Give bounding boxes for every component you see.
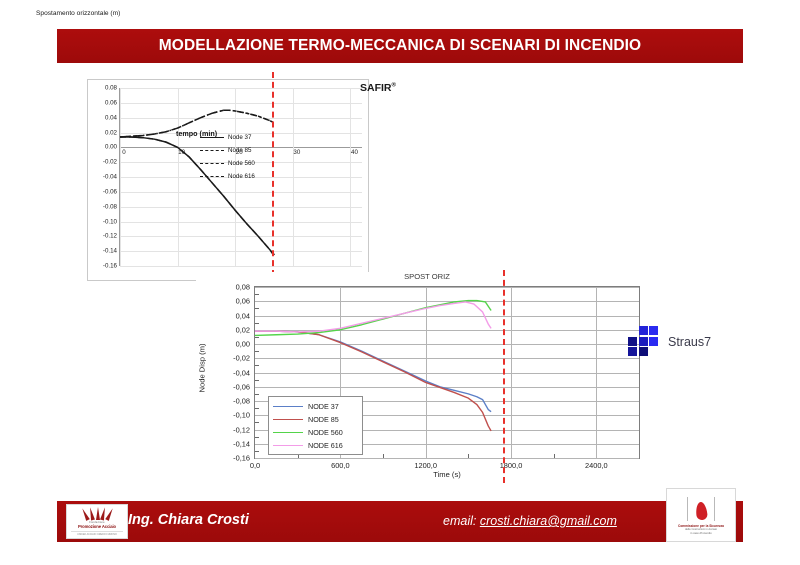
page-title: MODELLAZIONE TERMO-MECCANICA DI SCENARI … — [159, 37, 641, 55]
straus7-legend-label: NODE 37 — [308, 402, 339, 411]
flame-shape — [695, 501, 708, 520]
straus7-x-axis-title: Time (s) — [254, 470, 640, 479]
safir-ytick-label: -0.02 — [103, 159, 117, 166]
email-label: email: — [443, 514, 476, 528]
email-address-link[interactable]: crosti.chiara@gmail.com — [480, 514, 617, 528]
straus7-logo-cell — [628, 347, 637, 356]
straus7-logo-cell — [628, 337, 637, 346]
safir-ytick-label: -0.04 — [103, 174, 117, 181]
straus7-ytick-label: -0,06 — [233, 382, 250, 391]
straus7-legend-item: NODE 616 — [273, 439, 358, 452]
straus7-ytick-label: 0,06 — [236, 297, 250, 306]
straus7-brand: Straus7 — [628, 326, 711, 357]
safir-software-label: SAFIR® — [360, 82, 396, 94]
safir-legend-swatch-dashed — [200, 150, 224, 151]
safir-ytick-label: -0.16 — [103, 263, 117, 270]
safir-legend-item: Node 616 — [200, 170, 278, 183]
straus7-legend-item: NODE 37 — [273, 400, 358, 413]
straus7-ytick-label: -0,10 — [233, 411, 250, 420]
straus7-logo-cell — [649, 326, 658, 335]
straus7-ytick-label: 0,00 — [236, 340, 250, 349]
straus7-legend: NODE 37NODE 85NODE 560NODE 616 — [268, 396, 363, 455]
straus7-software-label: Straus7 — [668, 335, 711, 349]
logo-left-line3: UNICEF ACCIAIO CREDO FUMOSO — [71, 531, 123, 536]
straus7-legend-swatch — [273, 406, 303, 407]
straus7-ytick-label: 0,02 — [236, 325, 250, 334]
safir-legend-swatch-dotted-dash — [200, 163, 224, 164]
flame-icon — [687, 497, 715, 521]
safir-legend-item: Node 85 — [200, 144, 278, 157]
straus7-series-node-560 — [255, 301, 491, 336]
safir-ytick-label: 0.02 — [105, 129, 117, 136]
slide-title-bar: MODELLAZIONE TERMO-MECCANICA DI SCENARI … — [57, 29, 743, 63]
straus7-chart-title: SPOST ORIZ — [196, 272, 658, 281]
straus7-ytick-label: -0,04 — [233, 368, 250, 377]
slide-canvas: MODELLAZIONE TERMO-MECCANICA DI SCENARI … — [0, 0, 800, 565]
safir-legend-label: Node 37 — [228, 134, 251, 141]
safir-legend-label: Node 560 — [228, 160, 255, 167]
author-name: Ing. Chiara Crosti — [128, 512, 249, 528]
straus7-logo-icon — [628, 326, 659, 357]
safir-ytick-label: 0.08 — [105, 85, 117, 92]
safir-ytick-label: -0.06 — [103, 188, 117, 195]
safir-ytick-label: -0.10 — [103, 218, 117, 225]
straus7-series-node-616 — [255, 302, 491, 332]
safir-legend-swatch-solid — [200, 137, 224, 138]
safir-ytick-label: -0.12 — [103, 233, 117, 240]
straus7-xtick-label: 2400,0 — [585, 461, 608, 470]
safir-ytick-label: 0.04 — [105, 114, 117, 121]
straus7-ytick-label: 0,04 — [236, 311, 250, 320]
fondazione-promozione-acciaio-logo: Fondazione Promozione Acciaio UNICEF ACC… — [66, 504, 128, 539]
safir-ytick-label: -0.14 — [103, 248, 117, 255]
safir-gridline-y — [120, 266, 362, 267]
straus7-xtick-label: 600,0 — [331, 461, 350, 470]
straus7-y-axis-title: Node Disp (m) — [198, 344, 207, 393]
safir-software-name: SAFIR — [360, 82, 392, 94]
straus7-ytick-label: -0,08 — [233, 397, 250, 406]
straus7-legend-label: NODE 85 — [308, 415, 339, 424]
safir-legend: Node 37Node 85Node 560Node 616 — [200, 131, 278, 183]
fan-icon — [86, 507, 108, 520]
straus7-ytick-label: -0,16 — [233, 454, 250, 463]
straus7-legend-label: NODE 560 — [308, 428, 343, 437]
straus7-xtick-label: 0,0 — [250, 461, 260, 470]
straus7-legend-item: NODE 85 — [273, 413, 358, 426]
commissione-sicurezza-logo: Commissione per la Sicurezza delle Costr… — [666, 488, 736, 542]
straus7-legend-label: NODE 616 — [308, 441, 343, 450]
safir-ytick-label: 0.06 — [105, 99, 117, 106]
safir-legend-label: Node 616 — [228, 173, 255, 180]
straus7-ytick-label: 0,08 — [236, 283, 250, 292]
safir-legend-item: Node 560 — [200, 157, 278, 170]
straus7-ytick-label: -0,12 — [233, 425, 250, 434]
straus7-ytick-label: -0,14 — [233, 439, 250, 448]
straus7-gridline-y — [255, 458, 639, 459]
straus7-legend-swatch — [273, 432, 303, 433]
straus7-legend-swatch — [273, 419, 303, 420]
safir-ytick-label: 0.00 — [105, 144, 117, 151]
straus7-xtick-label: 1200,0 — [414, 461, 437, 470]
safir-legend-label: Node 85 — [228, 147, 251, 154]
author-email[interactable]: email: crosti.chiara@gmail.com — [443, 514, 617, 528]
straus7-legend-swatch — [273, 445, 303, 446]
logo-left-line2: Promozione Acciaio — [78, 524, 116, 529]
safir-legend-swatch-dash-dot — [200, 176, 224, 177]
straus7-logo-cell — [649, 337, 658, 346]
straus7-collapse-marker-line — [503, 270, 505, 483]
safir-legend-item: Node 37 — [200, 131, 278, 144]
straus7-logo-cell — [639, 337, 648, 346]
straus7-logo-cell — [639, 326, 648, 335]
safir-registered-mark: ® — [392, 83, 396, 89]
safir-chart-inner-title: Spostamento orizzontale (m) — [36, 10, 120, 17]
logo-right-line3: in caso d'Incendio — [690, 532, 711, 536]
straus7-chart: SPOST ORIZ Node Disp (m) Time (s) 0,080,… — [196, 272, 658, 494]
straus7-logo-cell — [639, 347, 648, 356]
straus7-legend-item: NODE 560 — [273, 426, 358, 439]
straus7-ytick-label: -0,02 — [233, 354, 250, 363]
safir-ytick-label: -0.08 — [103, 203, 117, 210]
